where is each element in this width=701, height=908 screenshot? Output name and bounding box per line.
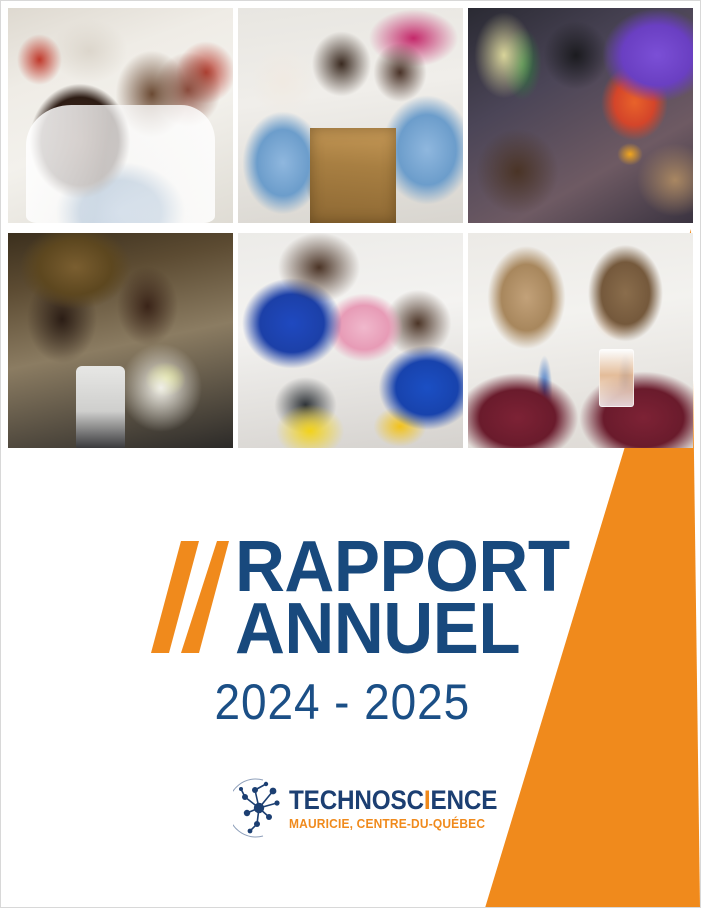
technoscience-logo: TECHNOSCIENCE MAURICIE, CENTRE-DU-QUÉBEC [233, 769, 493, 847]
logo-wordmark-after: ENCE [430, 785, 497, 815]
cover-photo-1 [8, 8, 233, 223]
cover-photo-6 [468, 233, 693, 448]
cover-photo-4 [8, 233, 233, 448]
logo-wordmark-before: TECHNOSC [289, 785, 424, 815]
page-title-year: 2024 - 2025 [1, 673, 479, 731]
cover-photo-3 [468, 8, 693, 223]
logo-wordmark: TECHNOSCIENCE [289, 787, 497, 814]
molecule-node-icon [233, 777, 293, 839]
cover-photo-2 [238, 8, 463, 223]
page-title-line-2: ANNUEL [235, 599, 570, 661]
photo-grid [8, 8, 694, 450]
logo-tagline: MAURICIE, CENTRE-DU-QUÉBEC [289, 817, 502, 830]
cover-title-block: RAPPORT ANNUEL 2024 - 2025 [1, 537, 521, 731]
cover-photo-5 [238, 233, 463, 448]
report-cover-page: RAPPORT ANNUEL 2024 - 2025 [0, 0, 701, 908]
double-slash-icon [151, 541, 229, 653]
